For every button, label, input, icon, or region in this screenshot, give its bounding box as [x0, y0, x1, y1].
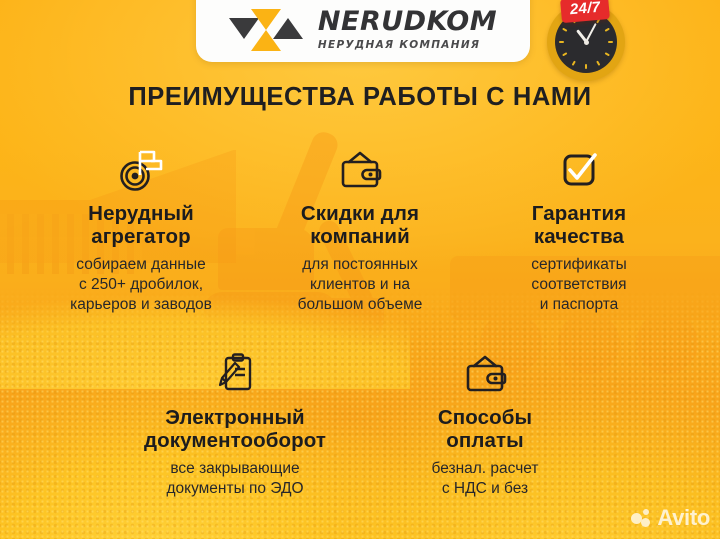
feature-title: Гарантия качества [478, 203, 681, 249]
avito-label: Avito [657, 505, 710, 531]
features-row-2: Электронный документооборот все закрываю… [0, 350, 720, 499]
promo-banner: NERUDKOM НЕРУДНАЯ КОМПАНИЯ 24/7 ПРЕИМУЩЕ… [0, 0, 720, 539]
feature-desc: для постоянных клиентов и на большом объ… [259, 255, 462, 315]
logo-card: NERUDKOM НЕРУДНАЯ КОМПАНИЯ [196, 0, 530, 62]
feature-desc: все закрывающие документы по ЭДО [118, 459, 352, 499]
wallet-icon [259, 146, 462, 192]
page-title: ПРЕИМУЩЕСТВА РАБОТЫ С НАМИ [0, 83, 720, 112]
feature-skidki-dlya-kompaniy: Скидки для компаний для постоянных клиен… [251, 146, 470, 315]
clock-badge: 24/7 [547, 3, 625, 81]
feature-garantiya-kachestva: Гарантия качества сертификаты соответств… [470, 146, 689, 315]
wallet-icon [368, 350, 602, 396]
feature-title: Электронный документооборот [118, 407, 352, 453]
logo-text: NERUDKOM НЕРУДНАЯ КОМПАНИЯ [318, 8, 497, 51]
logo-tagline: НЕРУДНАЯ КОМПАНИЯ [318, 40, 480, 51]
feature-title: Нерудный агрегатор [40, 203, 243, 249]
feature-title: Способы оплаты [368, 407, 602, 453]
feature-desc: безнал. расчет с НДС и без [368, 459, 602, 499]
feature-desc: сертификаты соответствия и паспорта [478, 255, 681, 315]
radar-target-icon [40, 146, 243, 192]
checkbox-check-icon [478, 146, 681, 192]
feature-title: Скидки для компаний [259, 203, 462, 249]
features-row-1: Нерудный агрегатор собираем данные с 250… [0, 146, 720, 315]
avito-dots-icon [631, 509, 652, 528]
feature-sposoby-oplaty: Способы оплаты безнал. расчет с НДС и бе… [360, 350, 610, 499]
feature-nerudny-agregator: Нерудный агрегатор собираем данные с 250… [32, 146, 251, 315]
feature-desc: собираем данные с 250+ дробилок, карьеро… [40, 255, 243, 315]
clipboard-pencil-icon [118, 350, 352, 396]
feature-elektronnyy-dokumentooborot: Электронный документооборот все закрываю… [110, 350, 360, 499]
avito-watermark: Avito [631, 505, 710, 531]
logo-name: NERUDKOM [318, 8, 497, 35]
four-triangles-mark-icon [229, 10, 303, 48]
